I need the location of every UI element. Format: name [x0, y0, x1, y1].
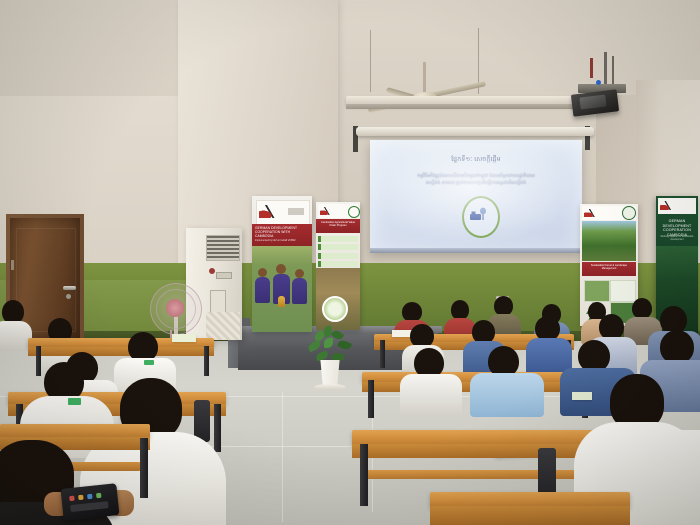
cooperation-logo-icon [660, 201, 676, 210]
banner-subtitle-text: Implemented by GIZ on behalf of BMZ [255, 239, 309, 242]
slide-body-line-1: កម្មវិធីអភិវឌ្ឍន៍ជនបទនិងកសិកម្មនៅកម្ពុជា… [382, 172, 570, 179]
desk-leg [140, 438, 148, 498]
ac-display-panel [216, 272, 232, 279]
floor-tile-line [282, 392, 283, 522]
banner-info-row [318, 236, 358, 242]
ac-power-indicator [209, 268, 215, 274]
slide-body-line-2: អាល្លឺម៉ង់ តាមរយៈភ្នាក់ងារសហប្រតិបត្តិកា… [382, 179, 570, 186]
screen-weight-bar [370, 248, 582, 253]
door-lock[interactable] [66, 294, 71, 299]
desk-surface [0, 424, 150, 438]
trophy-icon [278, 296, 285, 307]
cooperation-logo-icon [584, 209, 600, 217]
desk-leg [360, 444, 368, 506]
slide-logo-icon [469, 207, 489, 223]
banner-info-row [318, 261, 358, 267]
door-handle[interactable] [63, 286, 76, 290]
smartphone-screen [67, 490, 113, 516]
desk-front-panel [430, 506, 630, 525]
pedestal-fan-hub [166, 299, 184, 317]
desk-front-panel [28, 347, 214, 356]
cooperation-logo-icon [259, 205, 281, 218]
banner-title-text: GERMAN DEVELOPMENT COOPERATION WITH CAMB… [255, 226, 309, 239]
desk-leg [214, 404, 221, 452]
fan-support-wire [370, 30, 371, 92]
paper-sheet [572, 392, 592, 400]
slide-title: ផ្នែកទី១ៈ សេចក្ដីផ្ដើម [388, 156, 564, 164]
plant-saucer [314, 384, 346, 390]
paper-sheet [392, 330, 412, 337]
value-chain-wheel-icon [322, 296, 348, 322]
lecture-hall-photo: ផ្នែកទី១ៈ សេចក្ដីផ្ដើម កម្មវិធីអភិវឌ្ឍន៍… [0, 0, 700, 525]
slide-body-text: កម្មវិធីអភិវឌ្ឍន៍ជនបទនិងកសិកម្មនៅកម្ពុជា… [382, 172, 570, 186]
banner-subtitle-text: Working together for sustainable develop… [658, 236, 696, 242]
desk-leg [368, 380, 374, 418]
cooperation-logo-icon [320, 207, 334, 215]
screen-roller-housing [356, 127, 594, 136]
ceiling-fan-rod [423, 62, 426, 96]
door-hinge [11, 260, 14, 270]
projector-mount-pole [612, 56, 614, 86]
ministry-seal-icon [622, 206, 636, 220]
banner-text-cell [610, 280, 636, 302]
door-panel [16, 228, 76, 332]
projector-mount-pole [604, 52, 607, 86]
banner-photo-tree-canopy [582, 221, 636, 261]
desk-leg [36, 346, 41, 376]
projector-cable [590, 58, 593, 78]
ministry-seal-icon [348, 206, 360, 218]
paper-sheet [172, 334, 196, 342]
desk-leg [204, 346, 209, 376]
projector-indicator-light [596, 80, 601, 85]
banner-photo-cell [584, 280, 610, 302]
banner-info-row [318, 244, 358, 250]
ac-air-grille [206, 235, 240, 261]
ceiling-batten-shadow [346, 104, 598, 109]
banner-title-text: Cambodian Agricultural Value Chain Progr… [318, 221, 358, 228]
desk-book-shelf [366, 470, 606, 479]
banner-title-text: Sustainable Forest & Landscape Managemen… [584, 264, 634, 270]
giz-logo-icon [288, 208, 304, 215]
ac-intake-mesh [206, 312, 240, 340]
banner-info-row [318, 253, 358, 259]
banner-photo-school-children [252, 246, 312, 332]
banner-info-rows [318, 236, 358, 270]
banner-title-text: GERMAN DEVELOPMENT COOPERATION CAMBODIA [658, 219, 696, 237]
desk-leg [380, 340, 385, 368]
